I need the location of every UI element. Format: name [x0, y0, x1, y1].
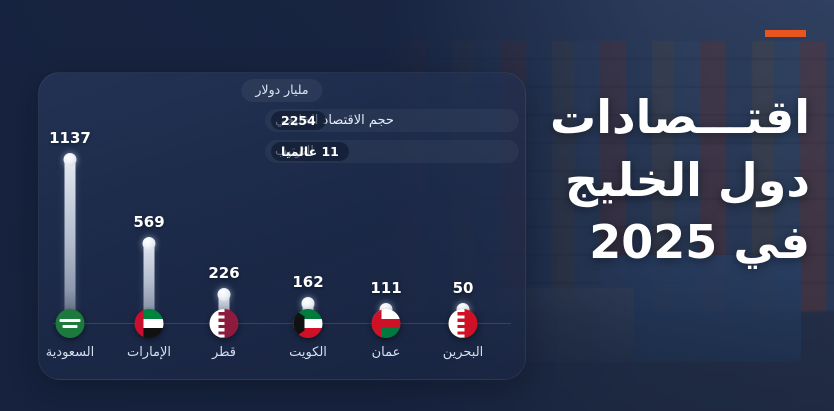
bar-group: 1137السعودية [42, 73, 98, 379]
qatar-flag [210, 309, 239, 338]
bar-value-label: 111 [358, 279, 414, 297]
bahrain-flag [449, 309, 478, 338]
bar-group: 226قطر [196, 73, 252, 379]
kuwait-flag [294, 309, 323, 338]
bar-value-label: 50 [435, 279, 491, 297]
bar-group: 162الكويت [280, 73, 336, 379]
bar-chart-plot: 1137السعودية569الإمارات226قطر162الكويت11… [39, 73, 525, 379]
country-label: قطر [188, 345, 260, 360]
country-label: السعودية [34, 345, 106, 360]
chart-card: مليار دولار 2254 حجم الاقتصاد الخليجي 11… [38, 72, 526, 380]
page-title-line-2: دول الخليج [510, 149, 810, 212]
country-label: عمان [350, 345, 422, 360]
country-label: البحرين [427, 345, 499, 360]
uae-flag [135, 309, 164, 338]
page-title: اقتـــصادات دول الخليج في 2025 [510, 86, 810, 274]
bar-knob[interactable] [64, 153, 77, 166]
page-title-line-3: في 2025 [510, 211, 810, 274]
country-label: الإمارات [113, 345, 185, 360]
oman-flag [372, 309, 401, 338]
bar-value-label: 569 [121, 213, 177, 231]
bar-value-label: 1137 [42, 129, 98, 147]
saudi-arabia-flag [56, 309, 85, 338]
bar-knob[interactable] [143, 237, 156, 250]
infographic-root: اقتـــصادات دول الخليج في 2025 مليار دول… [0, 0, 834, 411]
bar-group: 50البحرين [435, 73, 491, 379]
bar-rod[interactable] [65, 155, 76, 323]
bar-group: 569الإمارات [121, 73, 177, 379]
accent-bar [765, 30, 806, 37]
bar-knob[interactable] [218, 288, 231, 301]
bar-group: 111عمان [358, 73, 414, 379]
bar-value-label: 226 [196, 264, 252, 282]
country-label: الكويت [272, 345, 344, 360]
bar-value-label: 162 [280, 273, 336, 291]
page-title-line-1: اقتـــصادات [510, 86, 810, 149]
